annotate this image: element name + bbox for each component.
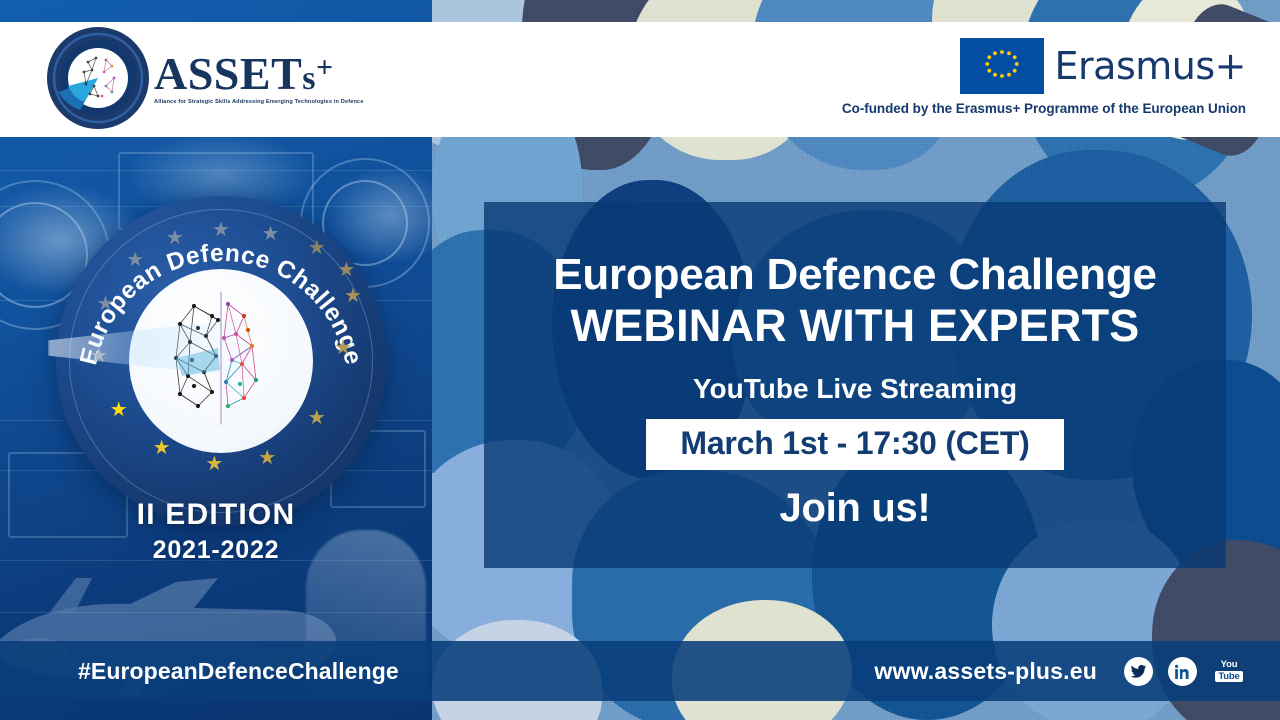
- medallion-star-11: ★: [110, 400, 128, 420]
- youtube-icon[interactable]: You Tube: [1212, 656, 1246, 686]
- hashtag-label: #EuropeanDefenceChallenge: [78, 658, 399, 685]
- edition-years: 2021-2022: [0, 536, 432, 565]
- medallion-star-7: ★: [308, 408, 326, 428]
- medallion-star-1: ★: [212, 220, 230, 240]
- panel-title-line1: European Defence Challenge: [553, 250, 1157, 299]
- medallion-star-6: ★: [334, 338, 352, 358]
- erasmus-wordmark: Erasmus+: [1055, 44, 1246, 88]
- twitter-icon[interactable]: [1124, 657, 1153, 686]
- assets-tagline: Alliance for Strategic Skills Addressing…: [154, 99, 364, 105]
- european-defence-challenge-medallion: European Defence Challenge: [56, 196, 386, 526]
- youtube-you-label: You: [1221, 660, 1238, 670]
- edition-block: II EDITION 2021-2022: [0, 498, 432, 565]
- eu-flag-icon: [960, 38, 1044, 94]
- website-url[interactable]: www.assets-plus.eu: [874, 658, 1097, 685]
- medallion-star-5: ★: [344, 286, 362, 306]
- medallion-star-8: ★: [258, 448, 276, 468]
- assets-wordmark: ASSETs+: [154, 51, 364, 97]
- medallion-star-13: ★: [97, 294, 115, 314]
- edition-label: II EDITION: [0, 498, 432, 532]
- medallion-star-10: ★: [153, 438, 171, 458]
- erasmus-plus-block: Erasmus+ Co-funded by the Erasmus+ Progr…: [842, 38, 1246, 116]
- medallion-star-3: ★: [308, 238, 326, 258]
- call-to-action: Join us!: [780, 486, 931, 531]
- promotional-banner: ASSETs+ Alliance for Strategic Skills Ad…: [0, 0, 1280, 720]
- erasmus-funding-note: Co-funded by the Erasmus+ Programme of t…: [842, 101, 1246, 116]
- youtube-tube-label: Tube: [1215, 671, 1242, 683]
- medallion-star-15: ★: [166, 228, 184, 248]
- medallion-star-14: ★: [126, 250, 144, 270]
- webinar-info-panel: European Defence Challenge WEBINAR WITH …: [484, 202, 1226, 568]
- panel-title-line2: WEBINAR WITH EXPERTS: [570, 301, 1139, 351]
- assets-logo-mark-icon: [46, 26, 150, 130]
- linkedin-icon[interactable]: [1168, 657, 1197, 686]
- assets-plus-logo: ASSETs+ Alliance for Strategic Skills Ad…: [46, 26, 364, 130]
- medallion-star-4: ★: [337, 260, 355, 280]
- footer-bar: #EuropeanDefenceChallenge www.assets-plu…: [0, 641, 1280, 701]
- date-badge: March 1st - 17:30 (CET): [646, 419, 1063, 470]
- header-bar: ASSETs+ Alliance for Strategic Skills Ad…: [0, 22, 1280, 137]
- panel-subtitle: YouTube Live Streaming: [693, 373, 1017, 405]
- medallion-star-9: ★: [205, 454, 223, 474]
- medallion-star-2: ★: [262, 224, 280, 244]
